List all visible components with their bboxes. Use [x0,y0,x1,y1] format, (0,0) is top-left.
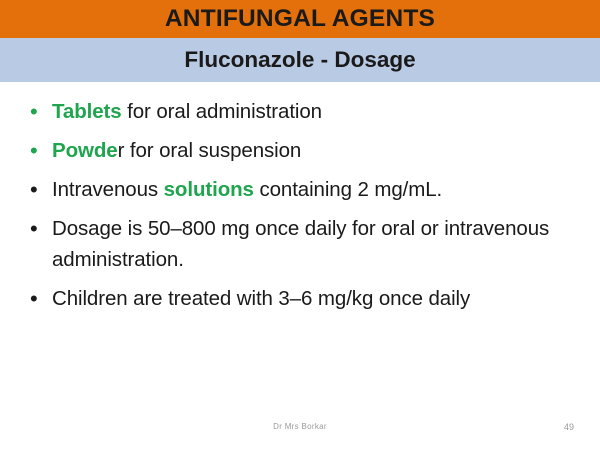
text-run: for oral administration [122,100,322,123]
bullet-marker-icon: • [30,213,52,244]
footer-author: Dr Mrs Borkar [0,422,600,431]
text-run: r for oral suspension [118,139,302,162]
bullet-marker-icon: • [30,283,52,314]
text-run: Children are treated with 3–6 mg/kg once… [52,287,470,310]
list-item: •Dosage is 50–800 mg once daily for oral… [30,213,574,275]
list-item-text: Children are treated with 3–6 mg/kg once… [52,283,574,314]
list-item-text: Tablets for oral administration [52,96,574,127]
highlighted-term: Tablets [52,100,122,123]
footer-page-number: 49 [564,422,574,432]
list-item: •Intravenous solutions containing 2 mg/m… [30,174,574,205]
slide-footer: Dr Mrs Borkar 49 [0,422,600,436]
list-item: •Powder for oral suspension [30,135,574,166]
bullet-marker-icon: • [30,135,52,166]
list-item-text: Powder for oral suspension [52,135,574,166]
bullet-marker-icon: • [30,174,52,205]
slide: ANTIFUNGAL AGENTS Fluconazole - Dosage •… [0,0,600,450]
page-subtitle: Fluconazole - Dosage [184,49,415,72]
list-item: •Tablets for oral administration [30,96,574,127]
bullet-list: •Tablets for oral administration•Powder … [0,96,600,314]
text-run: Dosage is 50–800 mg once daily for oral … [52,217,549,271]
text-run: Intravenous [52,178,164,201]
list-item-text: Dosage is 50–800 mg once daily for oral … [52,213,574,275]
bullet-marker-icon: • [30,96,52,127]
list-item-text: Intravenous solutions containing 2 mg/mL… [52,174,574,205]
highlighted-term: solutions [164,178,254,201]
slide-subtitle-band: Fluconazole - Dosage [0,38,600,82]
slide-title-band: ANTIFUNGAL AGENTS [0,0,600,38]
page-title: ANTIFUNGAL AGENTS [165,7,435,32]
list-item: •Children are treated with 3–6 mg/kg onc… [30,283,574,314]
text-run: containing 2 mg/mL. [254,178,442,201]
highlighted-term: Powde [52,139,118,162]
